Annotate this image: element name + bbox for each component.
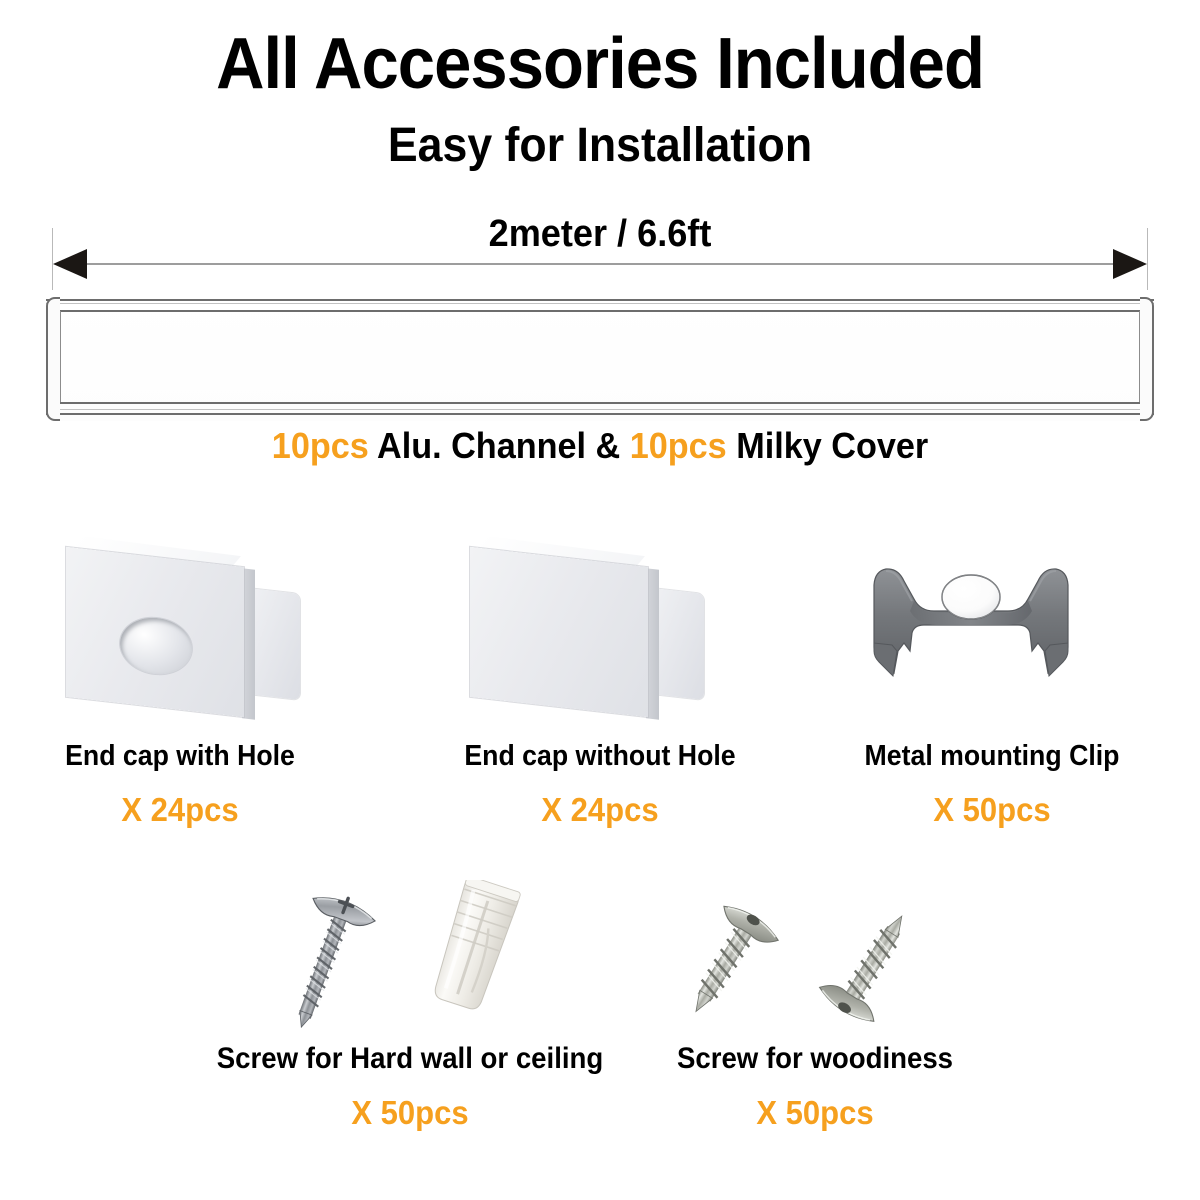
channel-right-end [1140, 297, 1154, 421]
drywall-screw-and-anchor-icon [285, 880, 565, 1035]
part-count-end-cap-without-hole: X 24pcs [412, 793, 788, 826]
screw-head [816, 978, 880, 1028]
page-subtitle: Easy for Installation [42, 122, 1158, 170]
wall-anchor [429, 880, 521, 1013]
part-label-end-cap-without-hole: End cap without Hole [416, 742, 784, 771]
cap-front-face [470, 547, 648, 717]
channel-inner-left-line [60, 311, 61, 402]
channel-top-outer-edge [46, 299, 1154, 301]
wood-screw-right [815, 899, 929, 1028]
dimension-line [52, 228, 1148, 290]
cover-qty: 10pcs [630, 425, 727, 466]
aluminum-channel-illustration [46, 297, 1154, 421]
cover-text: Milky Cover [727, 425, 928, 466]
part-label-metal-mounting-clip: Metal mounting Clip [826, 742, 1157, 771]
channel-top-hairline [46, 303, 1154, 304]
channel-caption: 10pcs Alu. Channel & 10pcs Milky Cover [30, 428, 1170, 464]
channel-bottom-outer-edge [46, 413, 1154, 415]
channel-left-end [46, 297, 60, 421]
part-count-screw-woodiness: X 50pcs [660, 1096, 970, 1129]
part-count-screw-hard-wall: X 50pcs [184, 1096, 635, 1129]
cap-insert-tab [248, 588, 300, 700]
channel-qty: 10pcs [272, 425, 369, 466]
drywall-screw [285, 887, 379, 1035]
page-title: All Accessories Included [42, 28, 1158, 100]
arrow-left-icon [53, 249, 87, 279]
channel-top-inner-edge [46, 310, 1154, 312]
metal-mounting-clip-icon [852, 555, 1092, 715]
part-label-screw-hard-wall: Screw for Hard wall or ceiling [189, 1044, 631, 1074]
channel-inner-right-line [1139, 311, 1140, 402]
arrow-right-icon [1113, 249, 1147, 279]
drywall-screw-svg [285, 880, 565, 1035]
wood-screws-svg [680, 895, 950, 1035]
part-count-end-cap-with-hole: X 24pcs [11, 793, 349, 826]
wood-screw-pair-icon [680, 895, 950, 1035]
infographic-canvas: All Accessories Included Easy for Instal… [0, 0, 1200, 1200]
cap-insert-tab [652, 588, 704, 700]
channel-bottom-inner-edge [46, 402, 1154, 404]
channel-text: Alu. Channel & [369, 425, 630, 466]
metal-clip-svg [852, 555, 1092, 715]
dimension-rule [62, 263, 1138, 265]
part-label-end-cap-with-hole: End cap with Hole [14, 742, 345, 771]
end-cap-with-hole-icon [58, 543, 288, 725]
part-count-metal-mounting-clip: X 50pcs [823, 793, 1161, 826]
wood-screw-left [680, 899, 783, 1028]
channel-bottom-hairline [46, 409, 1154, 410]
extension-line-right [1147, 228, 1148, 290]
screw-head [718, 900, 782, 950]
part-label-screw-woodiness: Screw for woodiness [663, 1044, 967, 1074]
end-cap-without-hole-icon [462, 543, 692, 725]
